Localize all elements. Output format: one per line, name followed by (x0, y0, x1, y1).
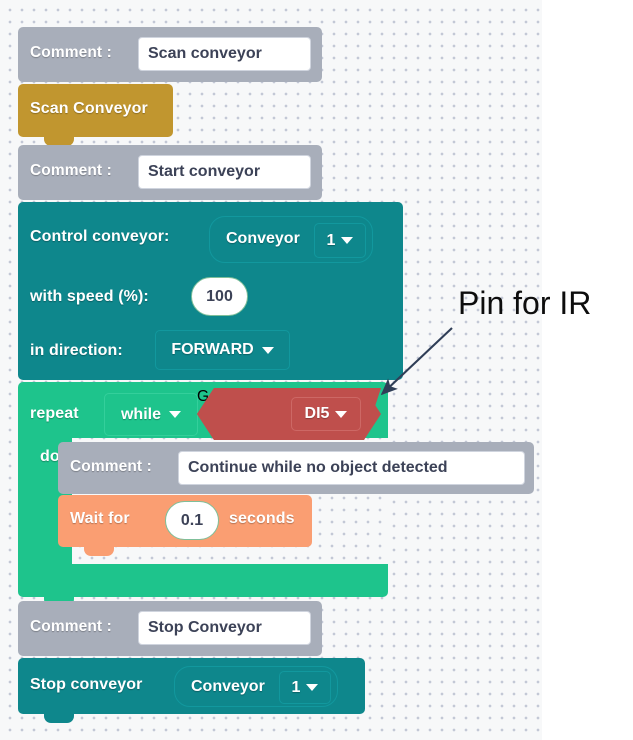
block-notch-bottom (44, 714, 74, 723)
comment-label: Comment : (30, 44, 112, 62)
conveyor-target-label: Conveyor (191, 678, 265, 696)
repeat-mode-dropdown[interactable]: while (104, 393, 198, 436)
comment-block-scan-conveyor[interactable]: Comment : Scan conveyor (18, 27, 322, 82)
wait-suffix-label: seconds (229, 510, 295, 528)
comment-block-start-conveyor[interactable]: Comment : Start conveyor (18, 145, 322, 200)
comment-label: Comment : (70, 458, 152, 476)
wait-seconds-field[interactable]: 0.1 (165, 501, 219, 540)
block-notch-top (84, 442, 114, 451)
conveyor-index-value: 1 (292, 679, 301, 697)
pin-dropdown[interactable]: DI5 (291, 397, 361, 431)
chevron-down-icon (262, 347, 274, 354)
screenshot-stage: Comment : Scan conveyor Scan Conveyor Co… (0, 0, 633, 740)
comment-block-stop-conveyor[interactable]: Comment : Stop Conveyor (18, 601, 322, 656)
conveyor-target-dropdown[interactable]: Conveyor 1 (209, 216, 373, 263)
comment-label: Comment : (30, 618, 112, 636)
wait-block[interactable]: Wait for 0.1 seconds (58, 495, 312, 547)
block-notch-top (44, 658, 74, 667)
control-conveyor-block[interactable]: Control conveyor: Conveyor 1 with speed … (18, 202, 403, 380)
chevron-down-icon (306, 684, 318, 691)
block-notch-top (44, 202, 74, 211)
block-notch-top (44, 27, 74, 36)
comment-text-field[interactable]: Start conveyor (138, 155, 311, 189)
wait-prefix-label: Wait for (70, 510, 130, 528)
speed-value-field[interactable]: 100 (191, 277, 248, 316)
comment-text-field[interactable]: Continue while no object detected (178, 451, 525, 485)
repeat-label: repeat (30, 405, 79, 423)
block-notch-top (44, 145, 74, 154)
procedure-call-label: Scan Conveyor (30, 100, 148, 118)
comment-text-field[interactable]: Stop Conveyor (138, 611, 311, 645)
direction-label: in direction: (30, 342, 123, 360)
repeat-mode-value: while (121, 406, 161, 424)
block-notch-bottom (84, 547, 114, 556)
direction-value: FORWARD (171, 341, 253, 359)
procedure-call-block-scan-conveyor[interactable]: Scan Conveyor (18, 84, 173, 137)
conveyor-index-dropdown[interactable]: 1 (314, 223, 366, 258)
conveyor-target-dropdown[interactable]: Conveyor 1 (174, 666, 338, 707)
comment-text-field[interactable]: Scan conveyor (138, 37, 311, 71)
conveyor-target-label: Conveyor (226, 230, 300, 248)
stop-conveyor-block[interactable]: Stop conveyor Conveyor 1 (18, 658, 365, 714)
speed-label: with speed (%): (30, 288, 149, 306)
conveyor-index-value: 1 (327, 232, 336, 250)
get-pin-reporter-block[interactable]: Get : DI5 (197, 388, 381, 440)
chevron-down-icon (335, 411, 347, 418)
direction-dropdown[interactable]: FORWARD (155, 330, 290, 370)
comment-block-continue[interactable]: Comment : Continue while no object detec… (58, 442, 534, 494)
stop-conveyor-label: Stop conveyor (30, 676, 142, 694)
block-notch-top (44, 84, 74, 93)
chevron-down-icon (341, 237, 353, 244)
comment-label: Comment : (30, 162, 112, 180)
annotation-label: Pin for IR (458, 285, 591, 322)
chevron-down-icon (169, 411, 181, 418)
block-notch-top (44, 382, 74, 391)
block-notch-top (44, 601, 74, 610)
pin-value: DI5 (305, 405, 330, 423)
do-label: do (40, 448, 60, 466)
conveyor-index-dropdown[interactable]: 1 (279, 671, 331, 704)
block-notch-top (84, 495, 114, 504)
control-conveyor-label: Control conveyor: (30, 228, 170, 246)
